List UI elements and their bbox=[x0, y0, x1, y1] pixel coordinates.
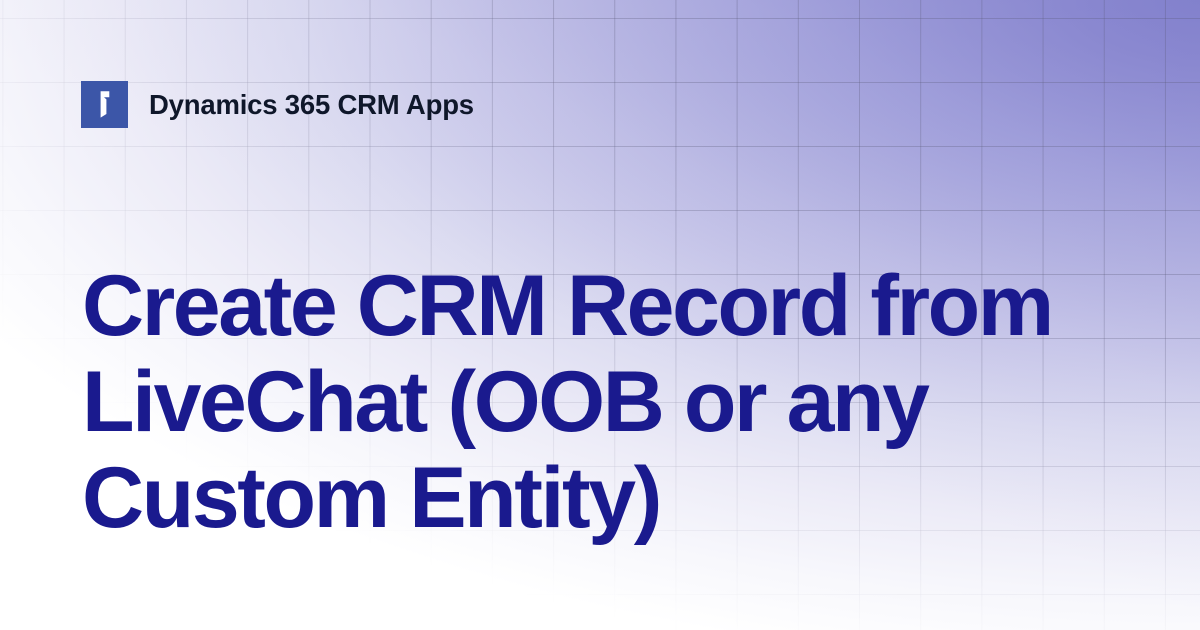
page-title: Create CRM Record from LiveChat (OOB or … bbox=[82, 258, 1122, 546]
share-card-canvas: Dynamics 365 CRM Apps Create CRM Record … bbox=[0, 0, 1200, 630]
brand-lockup: Dynamics 365 CRM Apps bbox=[81, 81, 474, 128]
brand-name-label: Dynamics 365 CRM Apps bbox=[149, 91, 474, 119]
dynamics-365-logo-icon bbox=[81, 81, 128, 128]
card-content: Dynamics 365 CRM Apps Create CRM Record … bbox=[0, 0, 1200, 630]
